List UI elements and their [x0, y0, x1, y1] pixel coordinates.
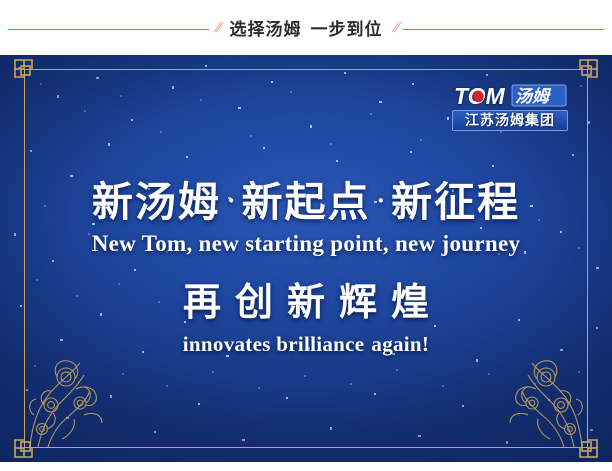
- page-title-part2: 一步到位: [311, 20, 383, 39]
- corner-knot-top-left-icon: [12, 57, 38, 83]
- corner-knot-top-right-icon: [574, 57, 600, 83]
- company-logo[interactable]: TOM TOM 汤姆 江苏汤姆集团: [452, 83, 568, 131]
- headline-seg-3: 新征程: [391, 179, 520, 225]
- subheadline-english-part1: innovates brilliance: [183, 332, 365, 356]
- logo-brand-cn-text: 汤姆: [515, 87, 552, 106]
- headline-chinese: 新汤姆·新起点·新征程: [0, 180, 612, 225]
- subheadline-chinese: 再创新辉煌: [0, 283, 612, 325]
- headline-seg-1: 新汤姆: [92, 179, 221, 225]
- page-header: // 选择汤姆一步到位 //: [0, 0, 612, 55]
- page-title-part1: 选择汤姆: [230, 20, 302, 39]
- header-inner: // 选择汤姆一步到位 //: [0, 15, 612, 40]
- page-title: 选择汤姆一步到位: [226, 15, 387, 40]
- subheadline-english-part2: again!: [371, 332, 429, 356]
- hero-banner: TOM TOM 汤姆 江苏汤姆集团 新汤姆·新起点·新征程 New Tom, n…: [0, 55, 612, 462]
- banner-content: 新汤姆·新起点·新征程 New Tom, new starting point,…: [0, 180, 612, 357]
- header-rule-right: [403, 29, 604, 30]
- logo-company-name: 江苏汤姆集团: [452, 110, 568, 131]
- filigree-ornament-bottom-right-icon: [474, 355, 594, 450]
- headline-seg-2: 新起点: [242, 179, 371, 225]
- headline-separator-1: ·: [221, 186, 242, 215]
- logo-wordmark-svg: TOM TOM 汤姆: [452, 83, 568, 109]
- filigree-ornament-bottom-left-icon: [18, 355, 138, 450]
- headline-english: New Tom, new starting point, new journey: [0, 231, 612, 257]
- header-rule-left: [8, 29, 209, 30]
- corner-knot-bottom-left-icon: [12, 434, 38, 460]
- footer-whitespace: [0, 462, 612, 471]
- corner-knot-bottom-right-icon: [574, 434, 600, 460]
- headline-separator-2: ·: [371, 186, 392, 215]
- logo-wordmark: TOM TOM 汤姆: [452, 83, 568, 109]
- subheadline-english: innovates brillianceagain!: [0, 332, 612, 357]
